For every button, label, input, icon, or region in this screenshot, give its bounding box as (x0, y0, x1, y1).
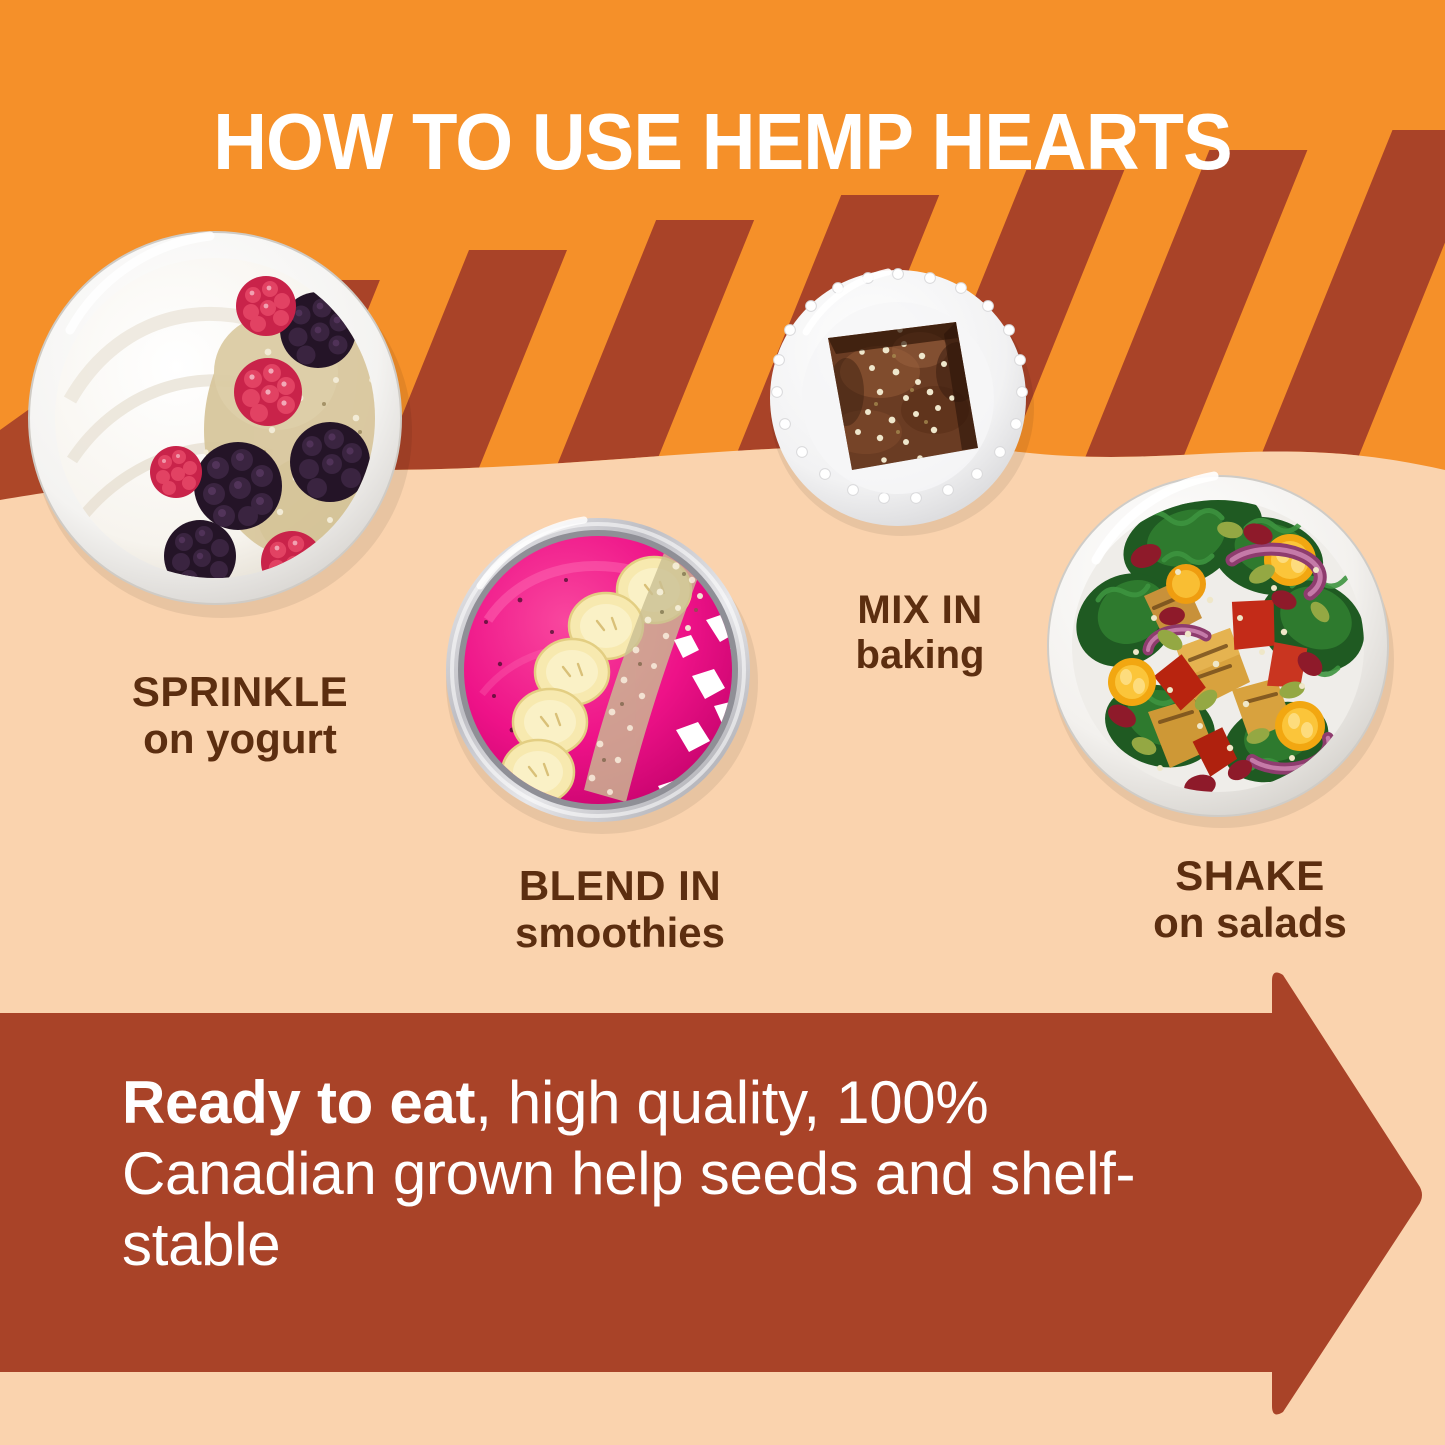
banner-bold-text: Ready to eat (122, 1069, 475, 1136)
infographic-canvas: HOW TO USE HEMP HEARTS (0, 0, 1445, 1445)
banner-text: Ready to eat, high quality, 100% Canadia… (122, 1068, 1222, 1280)
